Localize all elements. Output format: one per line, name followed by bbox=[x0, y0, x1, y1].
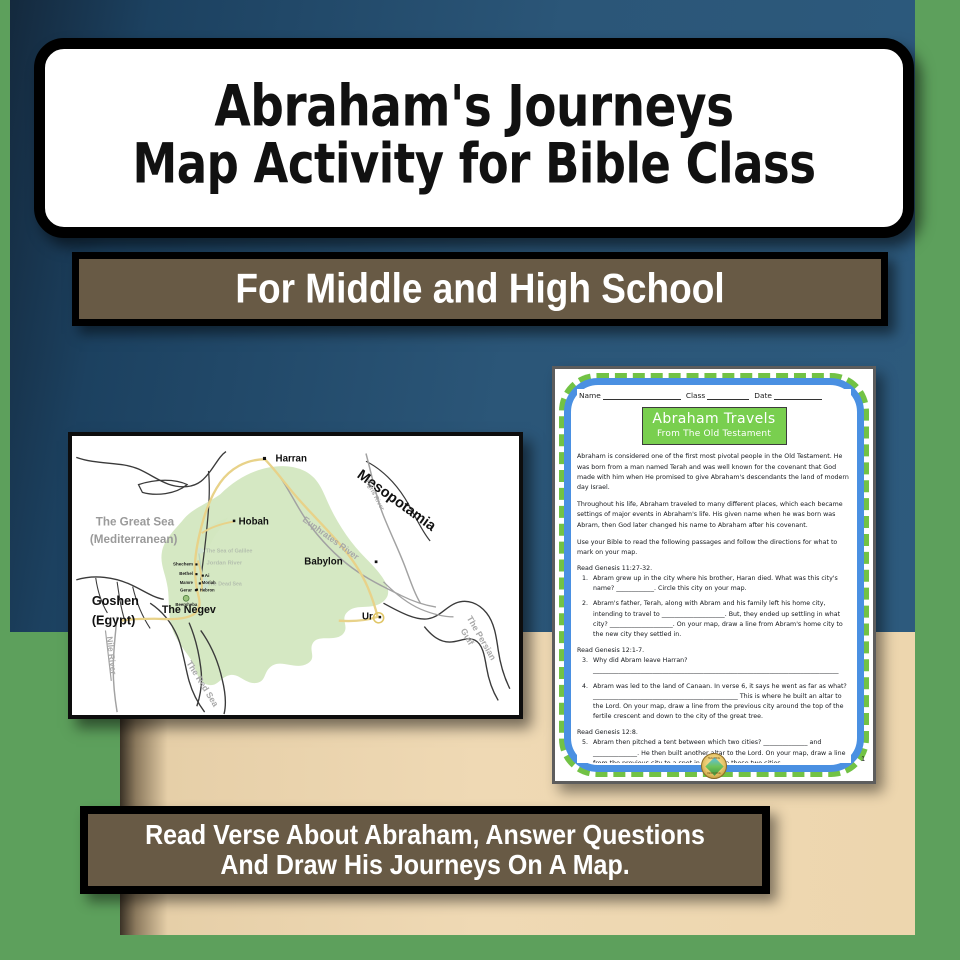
worksheet-section-heading-2: Read Genesis 12:1-7. bbox=[577, 647, 851, 654]
map-label-hebron: Hebron bbox=[200, 588, 215, 593]
date-field[interactable]: Date bbox=[754, 391, 822, 400]
title-card: Abraham's Journeys Map Activity for Bibl… bbox=[34, 38, 914, 238]
question-number: 5. bbox=[577, 738, 588, 763]
poster-root: Abraham's Journeys Map Activity for Bibl… bbox=[0, 0, 960, 960]
name-input-rule[interactable] bbox=[603, 393, 681, 400]
map-label-sea-of-galilee: The Sea of Galilee bbox=[206, 549, 253, 555]
worksheet-header-fields: Name Class Date bbox=[577, 389, 851, 400]
map-label-gerar: Gerar bbox=[180, 588, 192, 593]
question-number: 4. bbox=[577, 682, 588, 723]
map-label-jordan-river: Jordan River bbox=[207, 560, 243, 566]
subtitle-text: For Middle and High School bbox=[235, 265, 724, 312]
map-label-mamre: Mamre bbox=[180, 580, 194, 585]
worksheet-section-heading-1: Read Genesis 11:27-32. bbox=[577, 565, 851, 572]
class-label: Class bbox=[686, 391, 705, 400]
question-text: Abram grew up in the city where his brot… bbox=[593, 574, 851, 594]
name-field[interactable]: Name bbox=[579, 391, 681, 400]
worksheet-card: Name Class Date Abraham Travels From The… bbox=[552, 366, 876, 784]
worksheet-page-number: 1 bbox=[861, 756, 865, 763]
worksheet-title-box: Abraham Travels From The Old Testament bbox=[642, 407, 787, 445]
banner-line-2: And Draw His Journeys On A Map. bbox=[220, 848, 629, 882]
question-text: Abram's father, Terah, along with Abram … bbox=[593, 599, 851, 640]
map-label-great-sea-1: The Great Sea bbox=[96, 515, 175, 528]
map-label-ur: Ur bbox=[362, 612, 373, 623]
worksheet-question-list-1: 1. Abram grew up in the city where his b… bbox=[577, 574, 851, 640]
title-line-1: Abraham's Journeys bbox=[214, 76, 733, 137]
question-text: Abram was led to the land of Canaan. In … bbox=[593, 682, 851, 723]
map-label-bethel: Bethel bbox=[179, 571, 193, 576]
seal-top-text: TEACHING bbox=[702, 757, 726, 760]
abraham-journeys-map: Harran Hobah Babylon Ur The Great Sea (M… bbox=[72, 436, 519, 715]
map-label-great-sea-2: (Mediterranean) bbox=[90, 533, 178, 546]
question-number: 2. bbox=[577, 599, 588, 640]
seal-bottom-text: RESOURCE bbox=[702, 772, 726, 775]
worksheet-question: 2. Abram's father, Terah, along with Abr… bbox=[577, 599, 851, 640]
worksheet-question-list-2: 3. Why did Abram leave Harran? _________… bbox=[577, 656, 851, 722]
map-card: Harran Hobah Babylon Ur The Great Sea (M… bbox=[68, 432, 523, 719]
worksheet-paragraph-3: Use your Bible to read the following pas… bbox=[577, 538, 851, 558]
map-label-goshen-2: (Egypt) bbox=[92, 614, 135, 628]
worksheet-title-main: Abraham Travels bbox=[645, 412, 784, 427]
bottom-banner: Read Verse About Abraham, Answer Questio… bbox=[80, 806, 770, 894]
map-label-beersheba: Beersheba bbox=[175, 602, 197, 607]
question-number: 3. bbox=[577, 656, 588, 676]
worksheet-page: Name Class Date Abraham Travels From The… bbox=[555, 369, 873, 781]
map-label-babylon: Babylon bbox=[304, 556, 342, 567]
date-input-rule[interactable] bbox=[774, 393, 822, 400]
class-input-rule[interactable] bbox=[707, 393, 749, 400]
map-label-harran: Harran bbox=[276, 453, 307, 464]
banner-line-1: Read Verse About Abraham, Answer Questio… bbox=[145, 818, 705, 852]
map-label-hobah: Hobah bbox=[239, 516, 269, 527]
name-label: Name bbox=[579, 391, 601, 400]
subtitle-bar: For Middle and High School bbox=[72, 252, 888, 326]
worksheet-question: 4. Abram was led to the land of Canaan. … bbox=[577, 682, 851, 723]
worksheet-section-heading-3: Read Genesis 12:8. bbox=[577, 729, 851, 736]
worksheet-question: 1. Abram grew up in the city where his b… bbox=[577, 574, 851, 594]
worksheet-question: 3. Why did Abram leave Harran? _________… bbox=[577, 656, 851, 676]
worksheet-content: Name Class Date Abraham Travels From The… bbox=[577, 389, 851, 763]
question-number: 1. bbox=[577, 574, 588, 594]
worksheet-title-sub: From The Old Testament bbox=[645, 429, 784, 439]
class-field[interactable]: Class bbox=[686, 391, 749, 400]
map-label-shechem: Shechem bbox=[173, 561, 193, 566]
title-line-2: Map Activity for Bible Class bbox=[132, 135, 815, 194]
map-label-moriah: Moriah bbox=[202, 580, 216, 585]
map-label-goshen-1: Goshen bbox=[92, 594, 139, 608]
question-text: Why did Abram leave Harran? ____________… bbox=[593, 656, 851, 676]
map-label-ai: Ai bbox=[205, 573, 210, 579]
date-label: Date bbox=[754, 391, 772, 400]
worksheet-paragraph-2: Throughout his life, Abraham traveled to… bbox=[577, 500, 851, 531]
worksheet-seal-logo: TEACHING RESOURCE bbox=[701, 753, 727, 779]
worksheet-paragraph-1: Abraham is considered one of the first m… bbox=[577, 452, 851, 493]
